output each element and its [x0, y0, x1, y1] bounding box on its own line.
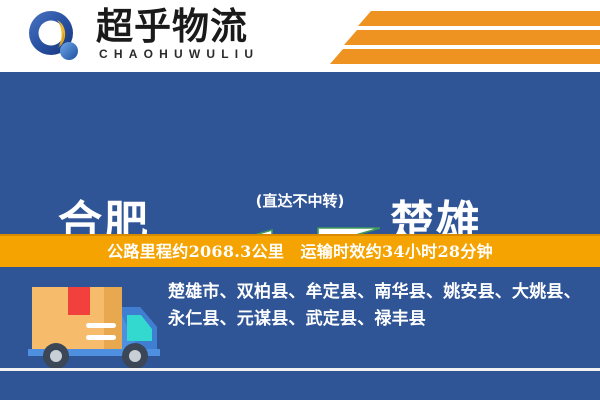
coverage-line-1: 楚雄市、双柏县、牟定县、南华县、姚安县、大姚县、 [168, 279, 588, 306]
header-stripes-decoration [330, 0, 600, 72]
stripe-3 [330, 49, 600, 64]
distance-and-duration-text: 公路里程约2068.3公里 运输时效约34小时28分钟 [107, 242, 493, 262]
stripe-1 [358, 11, 600, 26]
circle-crescent-logo-icon [27, 9, 83, 65]
route-section: 合肥 (直达不中转) 【往返运输】 楚雄 [0, 72, 600, 234]
coverage-section: 楚雄市、双柏县、牟定县、南华县、姚安县、大姚县、 永仁县、元谋县、武定县、禄丰县 [0, 267, 600, 400]
coverage-area-list: 楚雄市、双柏县、牟定县、南华县、姚安县、大姚县、 永仁县、元谋县、武定县、禄丰县 [168, 279, 588, 333]
banner-header: 超乎物流 CHAOHUWULIU [0, 0, 600, 72]
route-info-bar: 公路里程约2068.3公里 运输时效约34小时28分钟 [0, 234, 600, 267]
ground-divider-line [0, 368, 600, 371]
logistics-route-banner: 超乎物流 CHAOHUWULIU 合肥 (直达不中转) 【往返运输】 楚雄 公路… [0, 0, 600, 400]
coverage-line-2: 永仁县、元谋县、武定县、禄丰县 [168, 306, 588, 333]
brand-name-cn: 超乎物流 [96, 6, 248, 48]
direct-shipping-note: (直达不中转) [0, 190, 600, 211]
stripe-2 [344, 30, 600, 45]
delivery-truck-icon [14, 279, 164, 371]
brand-name-en: CHAOHUWULIU [99, 47, 259, 61]
